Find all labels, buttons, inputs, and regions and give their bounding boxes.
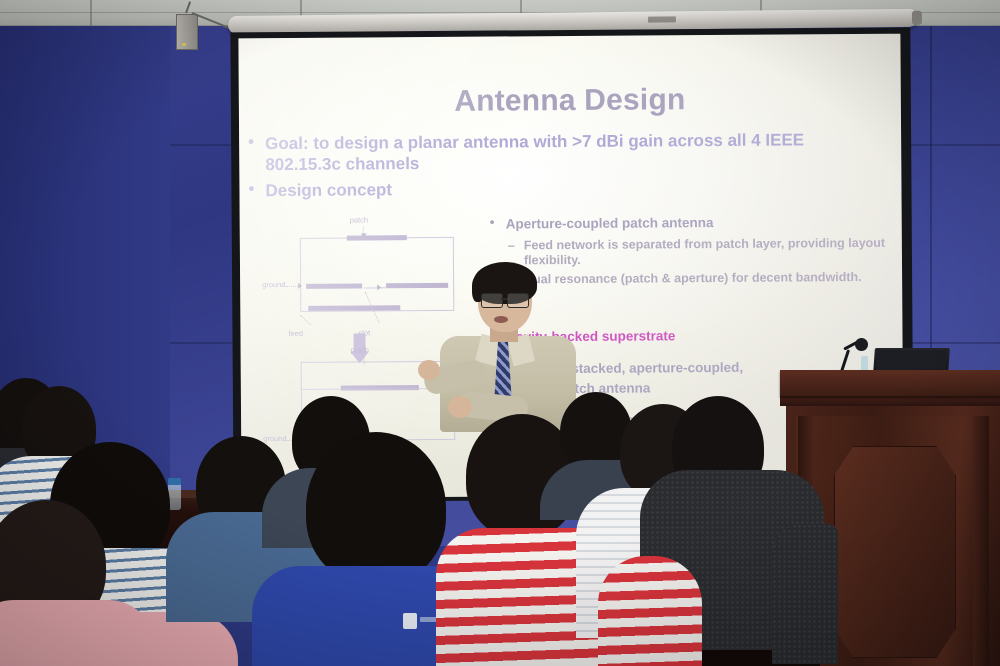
podium-top-surface bbox=[780, 370, 1000, 396]
diagram2-label-patch: patch bbox=[351, 345, 369, 354]
diagram1-label-ground: ground bbox=[262, 280, 285, 289]
laptop-screen bbox=[876, 350, 946, 370]
diagram2-label-ground: ground bbox=[263, 434, 286, 443]
diagram1-label-feed: feed bbox=[288, 329, 303, 338]
aperture-coupled-text: , aperture-coupled, bbox=[621, 359, 743, 375]
podium-lip bbox=[780, 396, 1000, 406]
screen-motor-box bbox=[176, 14, 198, 50]
motor-led-icon bbox=[182, 43, 186, 46]
slide-right-bullet: Aperture-coupled patch antenna bbox=[488, 214, 888, 234]
podium-front-panel bbox=[834, 446, 956, 658]
slide-bullet-design-concept: Design concept bbox=[243, 178, 843, 203]
diagram1-label-patch: patch bbox=[350, 215, 368, 224]
presentation-photo-scene: Antenna Design Goal: to design a planar … bbox=[0, 0, 1000, 666]
water-bottle-cap bbox=[168, 478, 181, 485]
slide-main-bullets: Goal: to design a planar antenna with >7… bbox=[243, 130, 844, 208]
superstrate-text: superstrate bbox=[598, 328, 675, 344]
presenter bbox=[418, 268, 586, 428]
microphone-icon bbox=[855, 338, 868, 351]
roller-end-cap bbox=[912, 11, 922, 25]
roller-logo bbox=[648, 16, 676, 22]
diagram1-feed-bar bbox=[308, 305, 400, 311]
slide-bullet-goal: Goal: to design a planar antenna with >7… bbox=[243, 130, 843, 176]
presenter-mouth bbox=[494, 316, 508, 323]
presenter-hand-right bbox=[448, 396, 472, 418]
presenter-glasses-icon bbox=[481, 293, 529, 306]
slide-right-sub-1: Feed network is separated from patch lay… bbox=[488, 236, 888, 269]
podium-column-right bbox=[973, 416, 989, 666]
presenter-hand-left bbox=[418, 360, 440, 380]
slide-title: Antenna Design bbox=[239, 82, 901, 121]
diagram1-ground-left bbox=[306, 283, 362, 288]
polo-logo-badge bbox=[403, 613, 417, 629]
diagram1-patch-bar bbox=[347, 235, 407, 240]
